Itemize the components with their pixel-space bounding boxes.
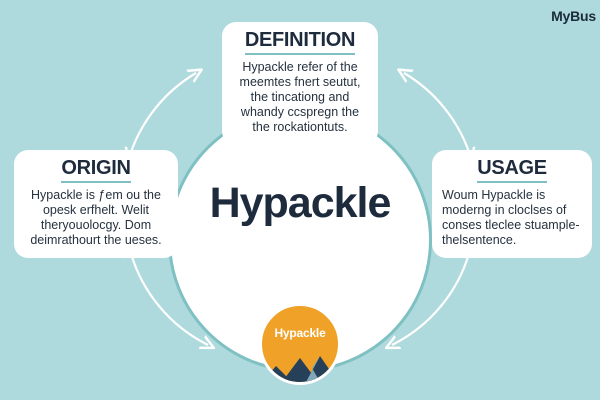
card-usage-title: USAGE <box>477 158 547 183</box>
card-origin-body: Hypackle is ƒem ou the opesk erfhelt. We… <box>24 188 168 248</box>
center-term-title: Hypackle <box>168 182 432 225</box>
mountain-icon <box>262 342 338 382</box>
card-usage-body: Woum Hypackle is moderng in cloclses of … <box>442 188 582 248</box>
card-definition[interactable]: DEFINITION Hypackle refer of the meemtes… <box>222 22 378 145</box>
infographic-canvas: MyBus Hypackle DEFINITION Hypackle refer… <box>0 0 600 400</box>
card-usage[interactable]: USAGE Woum Hypackle is moderng in clocls… <box>432 150 592 258</box>
brand-badge-label: Hypackle <box>262 326 338 340</box>
card-origin[interactable]: ORIGIN Hypackle is ƒem ou the opesk erfh… <box>14 150 178 258</box>
card-definition-title-wrap: DEFINITION <box>232 30 368 60</box>
watermark-label: MyBus <box>551 8 596 24</box>
card-definition-title: DEFINITION <box>245 30 355 55</box>
card-origin-title-wrap: ORIGIN <box>24 158 168 188</box>
brand-badge[interactable]: Hypackle <box>259 303 341 385</box>
card-origin-title: ORIGIN <box>61 158 130 183</box>
card-definition-body: Hypackle refer of the meemtes fnert seut… <box>232 60 368 135</box>
card-usage-title-wrap: USAGE <box>442 158 582 188</box>
